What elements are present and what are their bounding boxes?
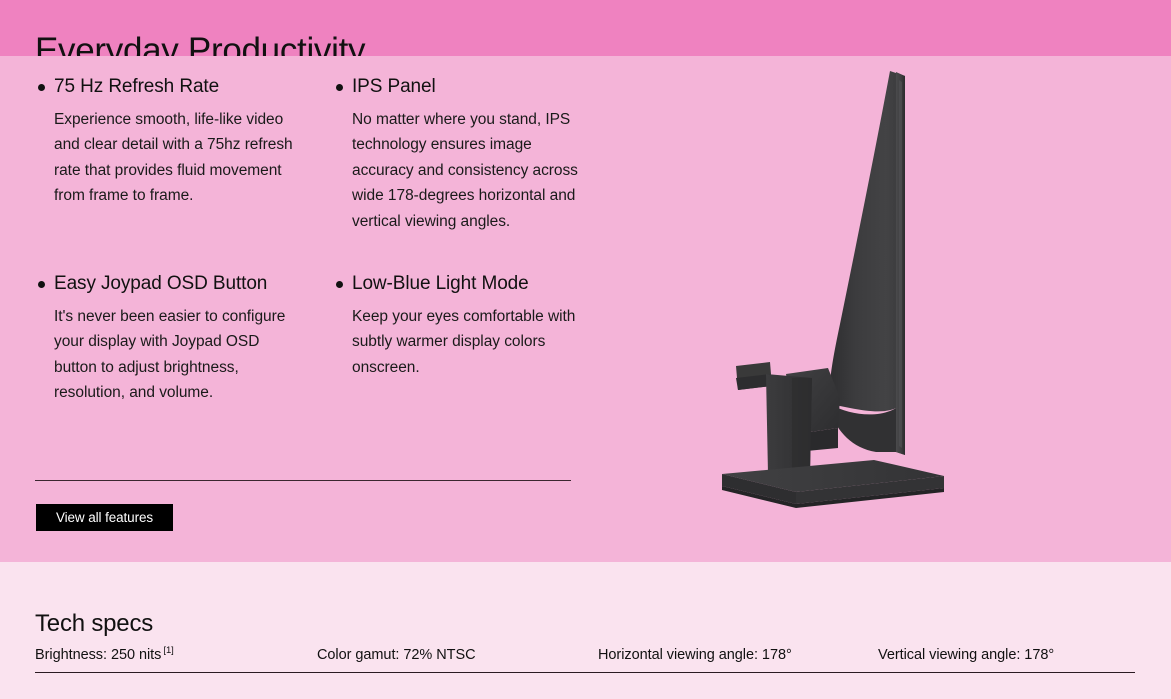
feature-body: No matter where you stand, IPS technolog… [352,107,595,234]
bullet-icon [38,281,45,288]
bullet-icon [336,281,343,288]
view-all-features-button[interactable]: View all features [36,504,173,531]
spec-brightness: Brightness: 250 nits[1] [35,644,174,666]
feature-heading: IPS Panel [352,74,595,100]
spec-vertical-viewing-angle: Vertical viewing angle: 178° [878,644,1054,666]
spec-horizontal-viewing-angle-label: Horizontal viewing angle: 178° [598,647,792,663]
spec-brightness-label: Brightness: 250 nits [35,647,161,663]
feature-body: Keep your eyes comfortable with subtly w… [352,304,595,380]
feature-item-joypad-osd: Easy Joypad OSD Button It's never been e… [35,271,333,406]
spec-color-gamut-label: Color gamut: 72% NTSC [317,647,476,663]
spec-horizontal-viewing-angle: Horizontal viewing angle: 178° [598,644,792,666]
monitor-neck-shade [792,378,812,474]
product-feature-page: Everyday Productivity 75 Hz Refresh Rate… [0,0,1171,699]
header-band: Everyday Productivity [0,0,1171,56]
feature-item-refresh-rate: 75 Hz Refresh Rate Experience smooth, li… [35,74,333,234]
monitor-product-image [700,56,1120,562]
feature-heading: Low-Blue Light Mode [352,271,595,297]
monitor-bezel-highlight [899,80,902,448]
section-divider [35,480,571,481]
spec-color-gamut: Color gamut: 72% NTSC [317,644,476,666]
monitor-bottom-lip [830,404,896,452]
bullet-icon [38,84,45,91]
tech-specs-rule [35,672,1135,673]
feature-body: It's never been easier to configure your… [54,304,306,406]
spec-vertical-viewing-angle-label: Vertical viewing angle: 178° [878,647,1054,663]
bullet-icon [336,84,343,91]
tech-specs-band: Tech specs Brightness: 250 nits[1] Color… [0,562,1171,699]
feature-item-ips-panel: IPS Panel No matter where you stand, IPS… [333,74,595,234]
feature-list: 75 Hz Refresh Rate Experience smooth, li… [35,74,595,406]
monitor-back-shell [829,71,905,455]
feature-band: 75 Hz Refresh Rate Experience smooth, li… [0,56,1171,562]
feature-heading: Easy Joypad OSD Button [54,271,333,297]
feature-item-low-blue-light: Low-Blue Light Mode Keep your eyes comfo… [333,271,595,406]
tech-specs-title: Tech specs [35,608,153,640]
feature-heading: 75 Hz Refresh Rate [54,74,333,100]
feature-body: Experience smooth, life-like video and c… [54,107,306,209]
spec-brightness-footnote: [1] [163,645,173,656]
